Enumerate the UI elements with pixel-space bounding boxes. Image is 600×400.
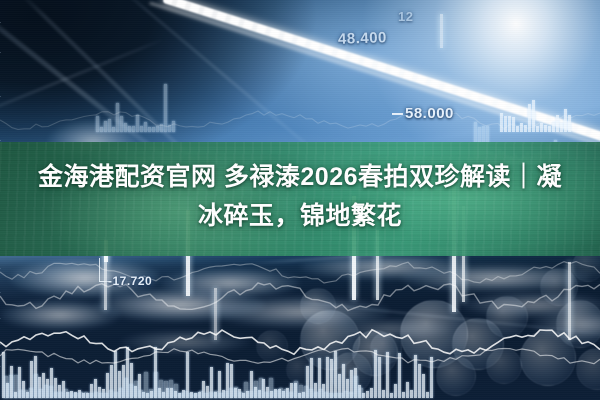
price-label-58000: 58.000 [405,105,454,122]
moving-average-line [0,110,600,129]
price-label-48400: 48.400 [338,29,387,48]
headline: 金海港配资官网 多禄溙2026春拍双珍解读｜凝 冰碎玉，锦地繁花 [0,158,600,236]
headline-line-2: 冰碎玉，锦地繁花 [14,197,586,236]
axis-label-12: 12 [398,9,413,24]
tick-mark-58000 [392,113,403,115]
moving-average-line [0,283,600,311]
price-label-17720: -17.720 [108,274,152,288]
moving-average-line [0,262,600,284]
moving-average-line [0,330,600,355]
moving-average-line [0,348,600,363]
headline-line-1: 金海港配资官网 多禄溙2026春拍双珍解读｜凝 [14,158,586,197]
banner-image: 48.400 12 58.000 -17.720 金海港配资官网 多禄溙2026… [0,0,600,400]
